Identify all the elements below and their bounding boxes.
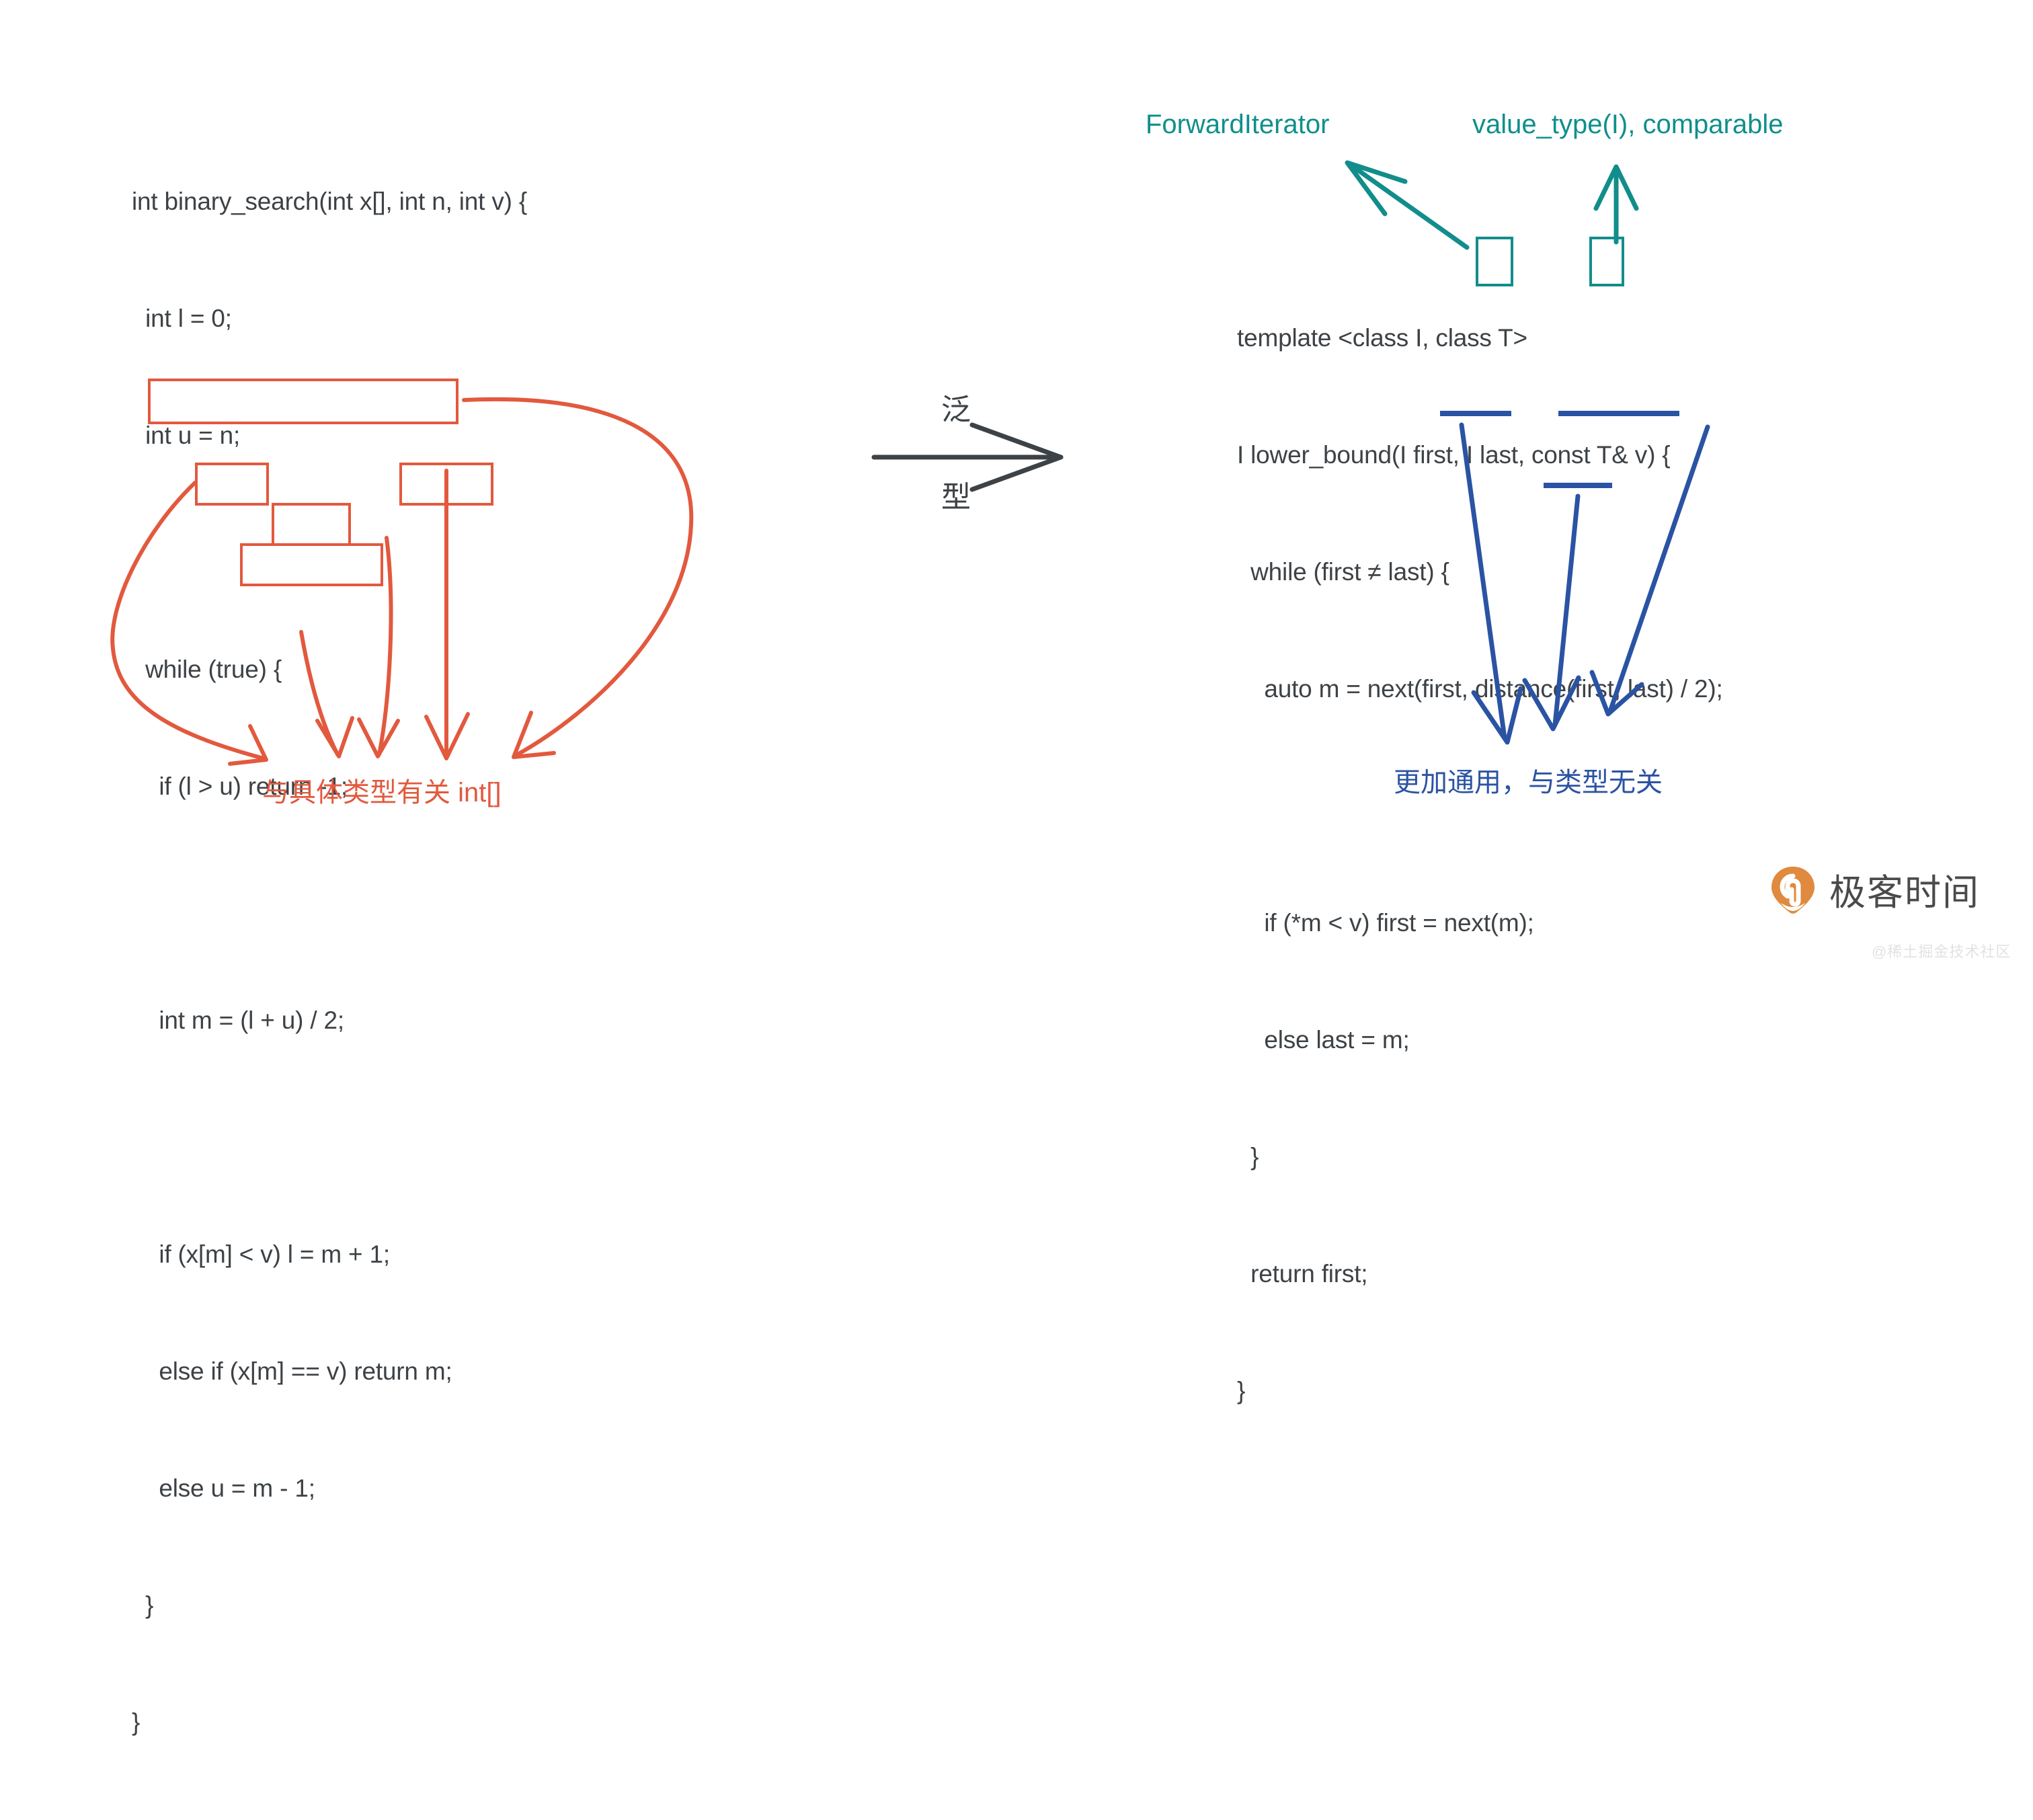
caption-concrete-type: 与具体类型有关 int[] <box>262 770 502 809</box>
code-line: int m = (l + u) / 2; <box>132 1001 527 1040</box>
code-line: } <box>1237 1372 1723 1411</box>
code-line: auto m = next(first, distance(first, las… <box>1237 670 1723 709</box>
geektime-logo-text: 极客时间 <box>1829 863 1980 916</box>
teal-arrow-diagonal-head <box>1347 163 1405 214</box>
box-xm-lt <box>195 463 269 506</box>
box-m-plus-1 <box>399 463 493 506</box>
code-line: while (first ≠ last) { <box>1237 553 1723 592</box>
box-u-minus-1 <box>240 543 383 586</box>
teal-arrow-vertical-head <box>1596 167 1636 208</box>
code-line: template <class I, class T> <box>1237 319 1723 358</box>
geektime-logo: 极客时间 <box>1767 863 1980 916</box>
slide-canvas: int binary_search(int x[], int n, int v)… <box>0 0 2033 970</box>
arrow-label-top: 泛 <box>941 385 971 428</box>
code-line: } <box>1237 1138 1723 1177</box>
caption-generic-type: 更加通用，与类型无关 <box>1394 760 1663 799</box>
code-line: if (*m < v) first = next(m); <box>1237 904 1723 943</box>
code-line-blank <box>132 884 527 923</box>
code-line: int l = 0; <box>132 299 527 338</box>
code-line: else last = m; <box>1237 1021 1723 1060</box>
box-xm-eq <box>272 503 351 546</box>
code-line: else if (x[m] == v) return m; <box>132 1352 527 1391</box>
watermark-text: @稀土掘金技术社区 <box>1872 940 2011 961</box>
teal-arrow-group <box>1347 163 1636 247</box>
code-line: else u = m - 1; <box>132 1469 527 1508</box>
code-line: } <box>132 1703 527 1742</box>
box-class-I <box>1476 237 1513 286</box>
code-line: I lower_bound(I first, I last, const T& … <box>1237 436 1723 475</box>
label-value-type: value_type(I), comparable <box>1472 110 1783 140</box>
code-line: while (true) { <box>132 650 527 689</box>
box-class-T <box>1589 237 1624 286</box>
code-line: if (x[m] < v) l = m + 1; <box>132 1235 527 1274</box>
code-line: return first; <box>1237 1255 1723 1294</box>
code-line-blank <box>132 1118 527 1157</box>
label-forward-iterator: ForwardIterator <box>1146 110 1329 140</box>
teal-arrow-diagonal <box>1351 165 1467 247</box>
box-int-m <box>148 379 459 424</box>
right-code-block: template <class I, class T> I lower_boun… <box>1237 241 1723 1489</box>
code-line: } <box>132 1586 527 1625</box>
arrow-label-bottom: 型 <box>941 473 971 516</box>
left-code-block: int binary_search(int x[], int n, int v)… <box>132 104 527 1820</box>
code-line: int binary_search(int x[], int n, int v)… <box>132 182 527 221</box>
geektime-pin-icon <box>1767 864 1819 915</box>
